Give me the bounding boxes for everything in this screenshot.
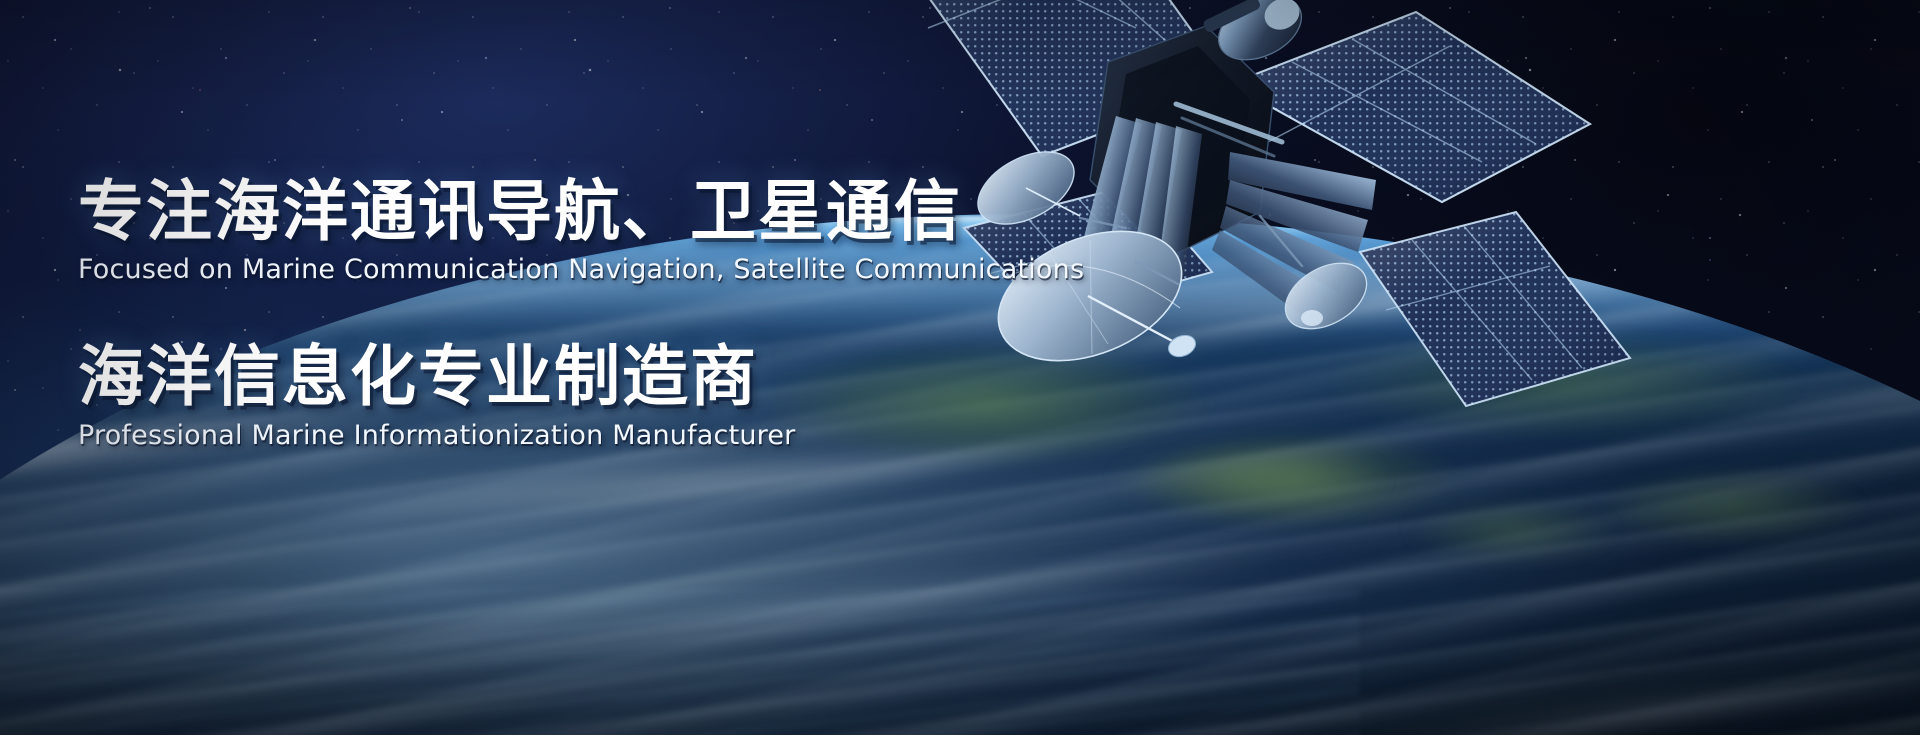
heading-group-secondary: 海洋信息化专业制造商 Professional Marine Informati… bbox=[78, 341, 1058, 450]
page-subtitle-primary: Focused on Marine Communication Navigati… bbox=[78, 254, 1058, 285]
surface-texture bbox=[0, 588, 1359, 735]
hero-banner: 专注海洋通讯导航、卫星通信 Focused on Marine Communic… bbox=[0, 0, 1920, 735]
page-subtitle-secondary: Professional Marine Informationization M… bbox=[78, 420, 1058, 451]
banner-copy: 专注海洋通讯导航、卫星通信 Focused on Marine Communic… bbox=[78, 176, 1058, 451]
heading-group-primary: 专注海洋通讯导航、卫星通信 Focused on Marine Communic… bbox=[78, 176, 1058, 285]
page-title-primary: 专注海洋通讯导航、卫星通信 bbox=[78, 176, 1058, 247]
page-title-secondary: 海洋信息化专业制造商 bbox=[78, 341, 1058, 412]
